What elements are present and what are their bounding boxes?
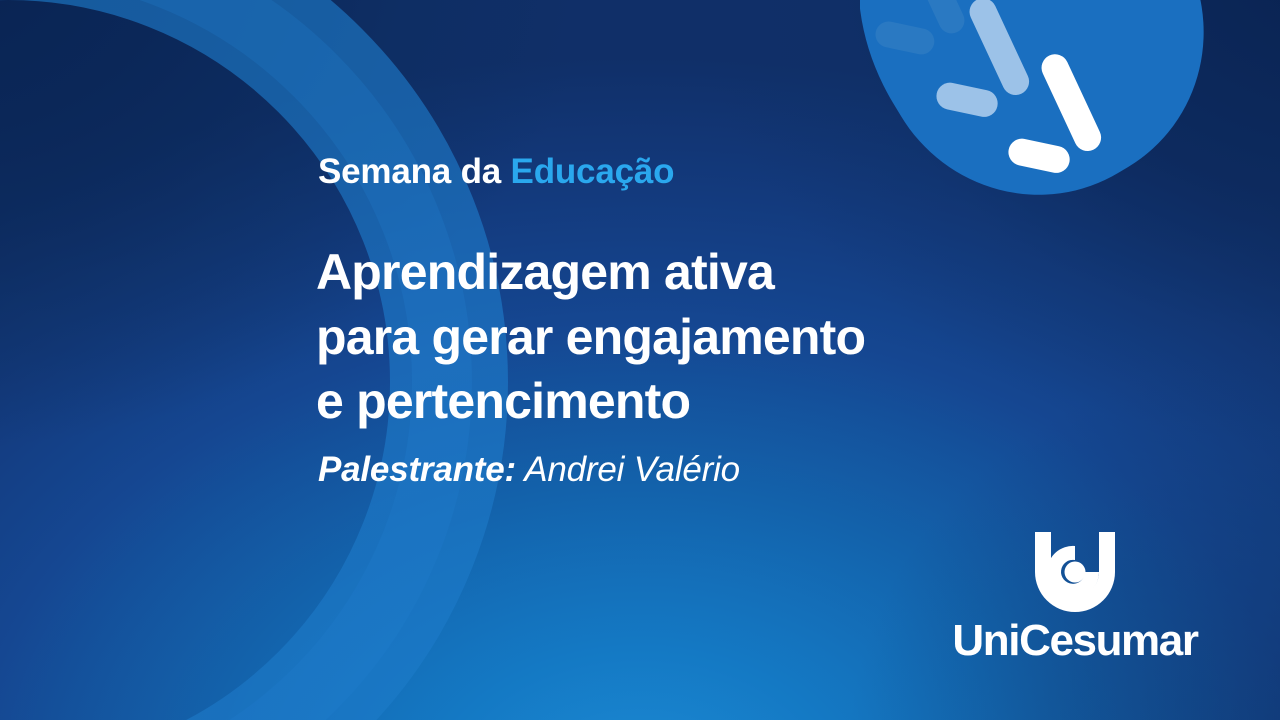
presentation-slide: Semana da Educação Aprendizagem ativa pa… — [0, 0, 1280, 720]
speaker-name: Andrei Valério — [516, 450, 740, 489]
kicker-prefix: Semana da — [318, 152, 511, 191]
title-line-2: para gerar engajamento — [316, 305, 865, 370]
title-line-3: e pertencimento — [316, 369, 865, 434]
checkmark-long-arm — [1037, 50, 1105, 156]
title-line-1: Aprendizagem ativa — [316, 240, 865, 305]
speaker-label: Palestrante: — [318, 450, 516, 489]
slide-title: Aprendizagem ativa para gerar engajament… — [316, 240, 865, 434]
unicesumar-logo: UniCesumar — [940, 528, 1210, 668]
speaker-line: Palestrante: Andrei Valério — [318, 450, 740, 490]
decorative-checkmark-cluster — [860, 0, 1280, 260]
event-kicker: Semana da Educação — [318, 152, 674, 192]
unicesumar-mark-icon — [1025, 528, 1125, 616]
unicesumar-wordmark: UniCesumar — [940, 616, 1210, 666]
kicker-highlight: Educação — [511, 152, 675, 191]
